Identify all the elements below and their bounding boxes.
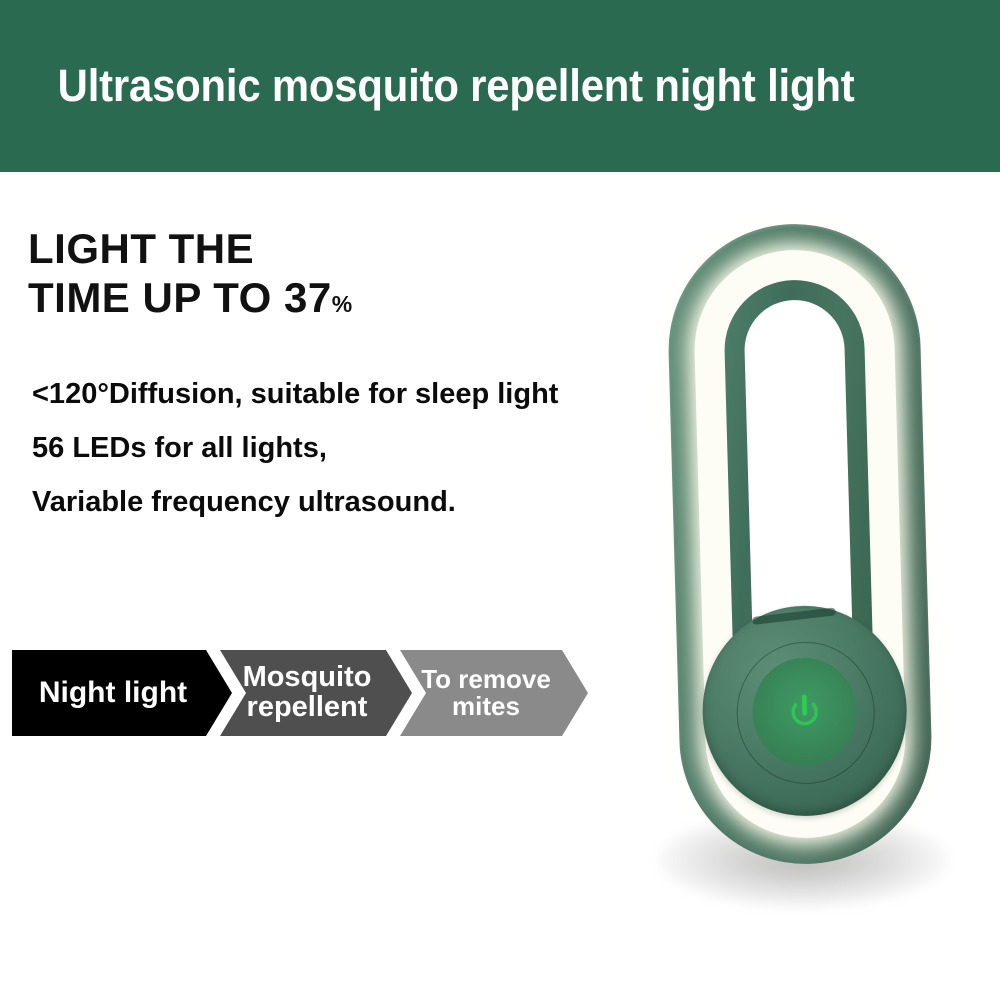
mode-chevron-row: Night light Mosquito repellent To remove… bbox=[12, 650, 588, 736]
power-icon bbox=[781, 688, 828, 735]
product-device bbox=[665, 221, 935, 868]
mode-chevron-mosquito-repellent: Mosquito repellent bbox=[220, 650, 412, 736]
headline: LIGHT THE TIME UP TO 37% bbox=[0, 172, 660, 329]
mode-chevron-mosquito-repellent-label: Mosquito repellent bbox=[243, 663, 372, 722]
mode-chevron-remove-mites: To remove mites bbox=[400, 650, 588, 736]
feature-item-ultrasound: Variable frequency ultrasound. bbox=[32, 475, 660, 529]
page-title: Ultrasonic mosquito repellent night ligh… bbox=[0, 60, 855, 112]
feature-item-leds: 56 LEDs for all lights, bbox=[32, 421, 660, 475]
headline-line-2-text: TIME UP TO 37 bbox=[28, 274, 332, 321]
header-banner: Ultrasonic mosquito repellent night ligh… bbox=[0, 0, 1000, 172]
marketing-copy-block: LIGHT THE TIME UP TO 37% <120°Diffusion,… bbox=[0, 172, 660, 529]
headline-percent-symbol: % bbox=[332, 291, 352, 317]
mode-chevron-remove-mites-label: To remove mites bbox=[421, 666, 551, 719]
headline-line-2: TIME UP TO 37% bbox=[28, 273, 660, 329]
feature-list: <120°Diffusion, suitable for sleep light… bbox=[0, 329, 660, 529]
headline-line-1: LIGHT THE bbox=[28, 224, 660, 273]
product-image bbox=[640, 200, 980, 960]
feature-item-diffusion: <120°Diffusion, suitable for sleep light bbox=[32, 367, 660, 421]
mode-chevron-night-light-label: Night light bbox=[39, 678, 187, 709]
mode-chevron-night-light: Night light bbox=[12, 650, 232, 736]
